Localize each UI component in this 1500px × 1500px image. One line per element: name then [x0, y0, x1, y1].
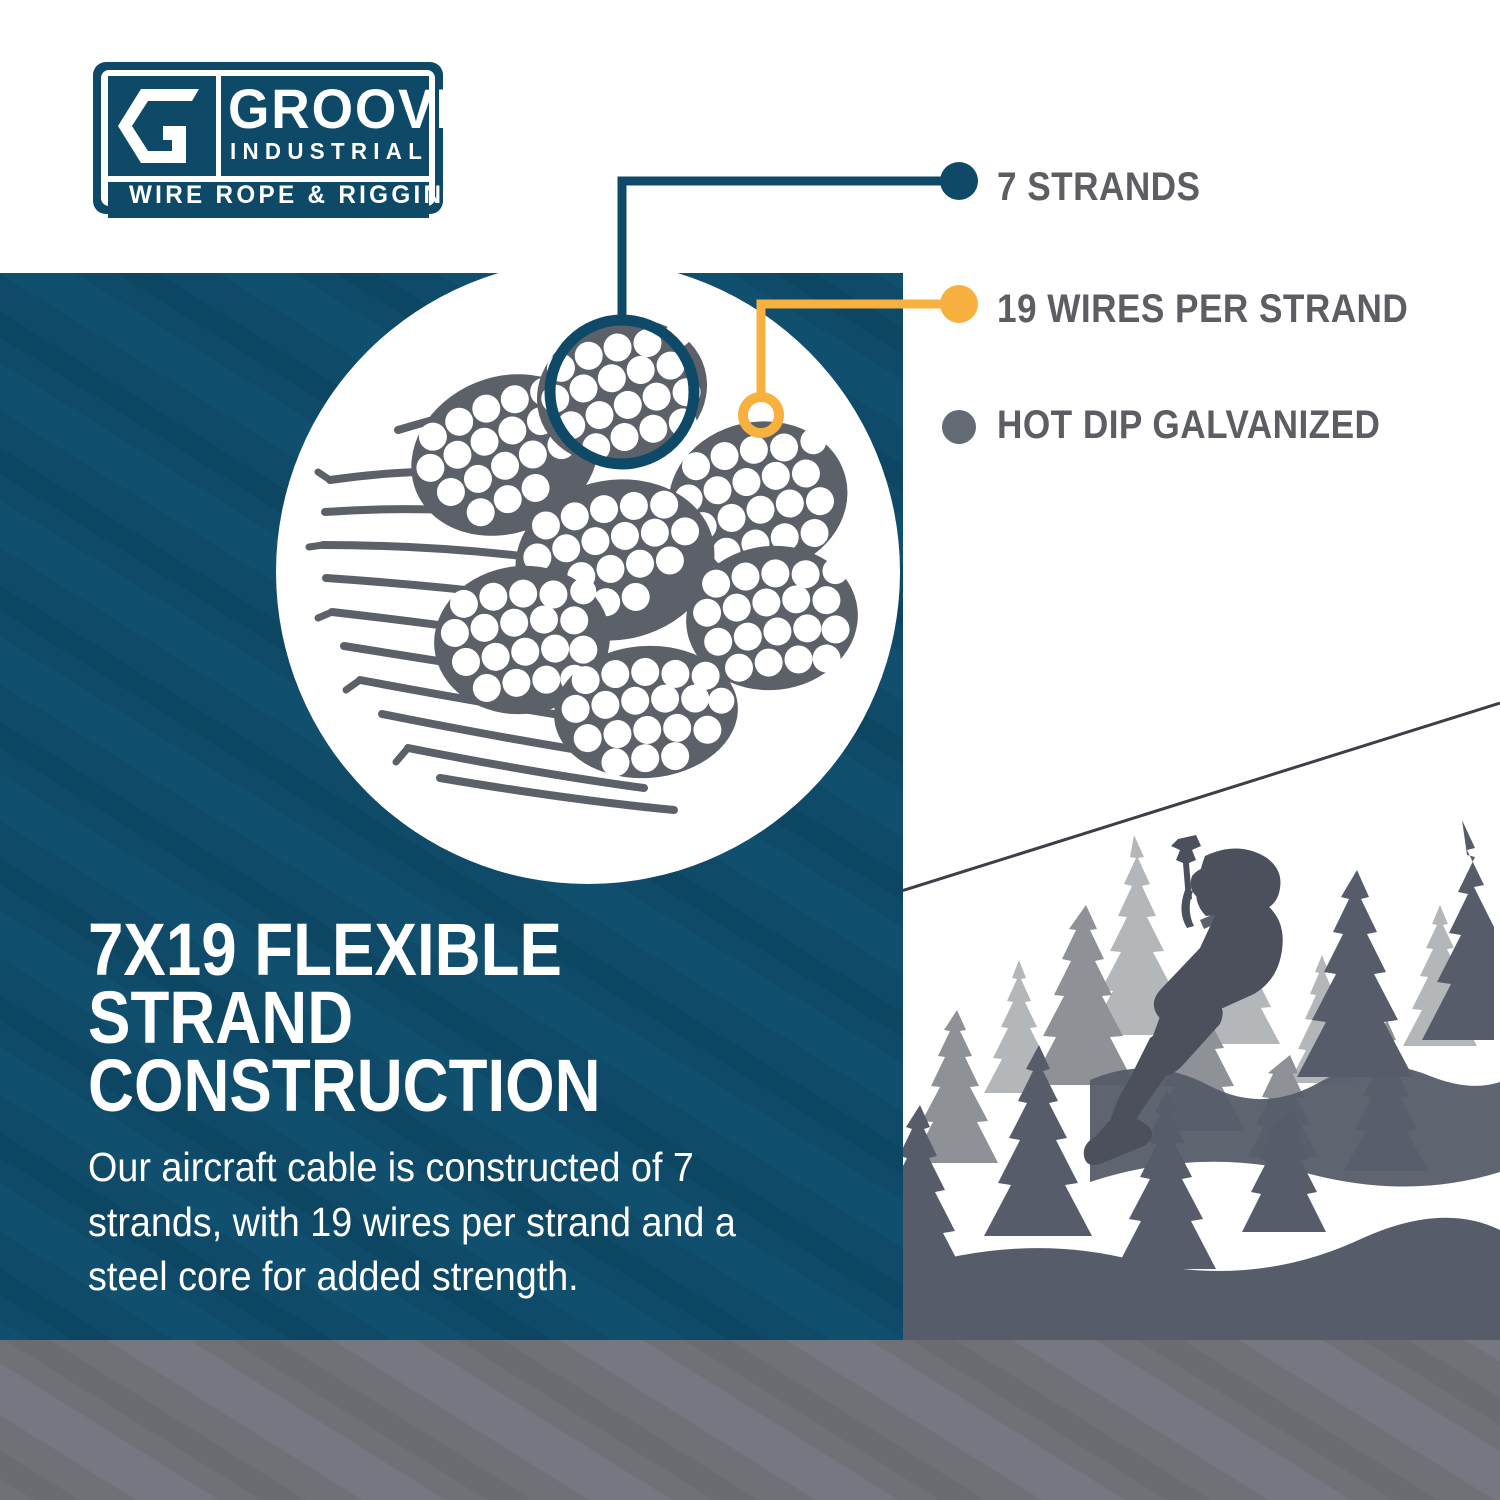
gray-dot: [942, 410, 976, 444]
callout-label-hot-dip-galvanized: HOT DIP GALVANIZED: [997, 405, 1380, 445]
infographic-canvas: GROOVE INDUSTRIAL WIRE ROPE & RIGGING 7 …: [0, 0, 1500, 1500]
page-title: 7X19 FLEXIBLE STRAND CONSTRUCTION: [88, 916, 776, 1120]
callout-label-wires-per-strand: 19 WIRES PER STRAND: [997, 289, 1408, 329]
bottom-gray-band: [0, 1340, 1500, 1500]
orange-dot: [940, 285, 978, 323]
logo-wordmark: GROOVE: [228, 76, 473, 141]
callout-label-strands: 7 STRANDS: [997, 167, 1200, 207]
logo-subword: INDUSTRIAL: [230, 138, 428, 165]
logo-tagline: WIRE ROPE & RIGGING: [129, 181, 467, 210]
navy-dot: [940, 162, 978, 200]
zipline-forest-scene: [869, 700, 1500, 1340]
panel-description: Our aircraft cable is constructed of 7 s…: [88, 1140, 815, 1304]
logo-text-group[interactable]: GROOVE INDUSTRIAL WIRE ROPE & RIGGING: [93, 62, 443, 214]
